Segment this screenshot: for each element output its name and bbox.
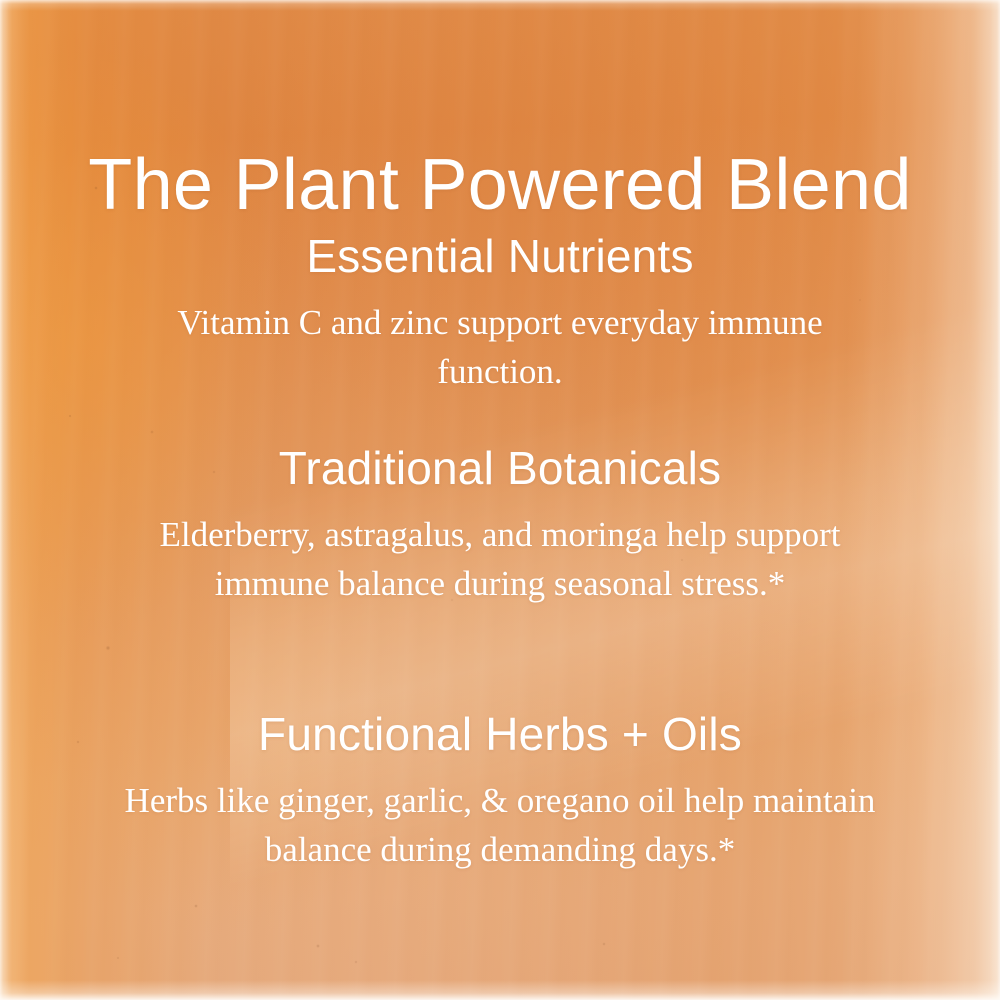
benefit-section-functional-herbs-oils: Functional Herbs + Oils Herbs like ginge… <box>0 706 1000 874</box>
benefit-section-essential-nutrients: Essential Nutrients Vitamin C and zinc s… <box>0 228 1000 396</box>
section-body-essential-nutrients: Vitamin C and zinc support everyday immu… <box>150 298 850 396</box>
section-heading-essential-nutrients: Essential Nutrients <box>0 228 1000 284</box>
product-benefits-panel: The Plant Powered Blend Essential Nutrie… <box>0 0 1000 1000</box>
page-title: The Plant Powered Blend <box>0 142 1000 228</box>
section-body-traditional-botanicals: Elderberry, astragalus, and moringa help… <box>120 510 880 608</box>
section-heading-traditional-botanicals: Traditional Botanicals <box>0 440 1000 496</box>
benefit-section-traditional-botanicals: Traditional Botanicals Elderberry, astra… <box>0 440 1000 608</box>
content-area: The Plant Powered Blend Essential Nutrie… <box>0 0 1000 1000</box>
section-body-functional-herbs-oils: Herbs like ginger, garlic, & oregano oil… <box>105 776 895 874</box>
section-heading-functional-herbs-oils: Functional Herbs + Oils <box>0 706 1000 762</box>
